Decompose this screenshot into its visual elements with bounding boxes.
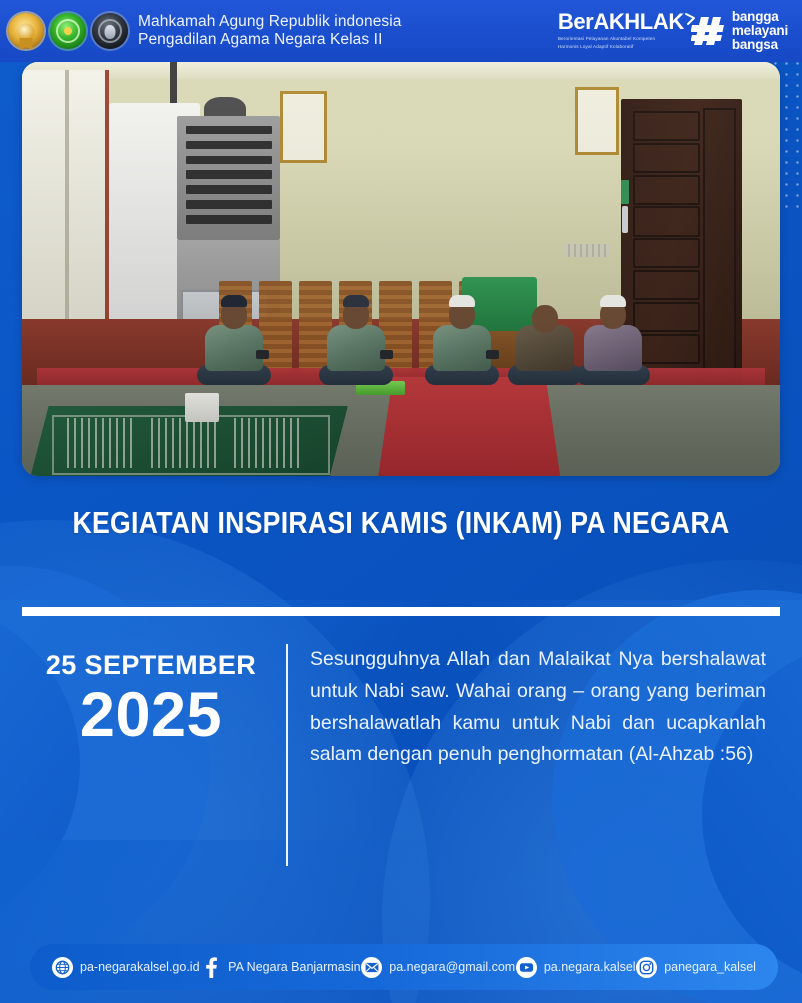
page-title: KEGIATAN INSPIRASI KAMIS (INKAM) PA NEGA… <box>56 505 746 541</box>
footer-item-instagram[interactable]: panegara_kalsel <box>636 957 756 978</box>
footer-item-youtube[interactable]: pa.negara.kalsel <box>516 957 636 978</box>
mahkamah-agung-dark-logo <box>92 13 128 49</box>
section-divider <box>22 607 780 616</box>
wbk-gold-award-logo <box>8 13 44 49</box>
berakhlak-word: BerAKHLAK <box>558 11 684 33</box>
org-line-1: Mahkamah Agung Republik indonesia <box>138 13 402 31</box>
hashtag-icon <box>691 15 725 47</box>
pengadilan-agama-green-logo <box>50 13 86 49</box>
logo-group <box>8 13 128 49</box>
org-line-2: Pengadilan Agama Negara Kelas II <box>138 31 402 49</box>
vertical-divider <box>286 644 288 866</box>
content-row: 25 SEPTEMBER 2025 Sesungguhnya Allah dan… <box>22 644 780 874</box>
berakhlak-wordmark: BerAKHLAK Berorientasi Pelayanan Akuntab… <box>558 11 684 52</box>
footer-contact-bar: pa-negarakalsel.go.id PA Negara Banjarma… <box>30 944 778 990</box>
berakhlak-subtitle-1: Berorientasi Pelayanan Akuntabel Kompete… <box>558 36 684 43</box>
date-day-month: 25 SEPTEMBER <box>22 650 280 681</box>
footer-label-facebook: PA Negara Banjarmasin <box>228 960 360 974</box>
organization-name: Mahkamah Agung Republik indonesia Pengad… <box>138 13 402 50</box>
footer-item-website[interactable]: pa-negarakalsel.go.id <box>52 957 200 978</box>
poster-canvas: Mahkamah Agung Republik indonesia Pengad… <box>0 0 802 1003</box>
footer-label-youtube: pa.negara.kalsel <box>544 960 636 974</box>
event-date: 25 SEPTEMBER 2025 <box>22 644 280 874</box>
email-icon <box>361 957 382 978</box>
footer-label-website: pa-negarakalsel.go.id <box>80 960 200 974</box>
tagline-line-1: bangga <box>732 10 788 24</box>
facebook-icon <box>200 957 221 978</box>
globe-icon <box>52 957 73 978</box>
date-year: 2025 <box>22 685 280 747</box>
berakhlak-tick-icon <box>685 7 695 19</box>
header-bar: Mahkamah Agung Republik indonesia Pengad… <box>0 0 802 62</box>
footer-item-email[interactable]: pa.negara@gmail.com <box>361 957 515 978</box>
footer-label-instagram: panegara_kalsel <box>664 960 756 974</box>
tagline-line-2: melayani <box>732 24 788 38</box>
event-photo <box>22 62 780 476</box>
quote-text: Sesungguhnya Allah dan Malaikat Nya bers… <box>310 644 780 874</box>
youtube-icon <box>516 957 537 978</box>
photo-scene <box>22 62 780 476</box>
footer-label-email: pa.negara@gmail.com <box>389 960 515 974</box>
instagram-icon <box>636 957 657 978</box>
footer-item-facebook[interactable]: PA Negara Banjarmasin <box>200 957 360 978</box>
berakhlak-subtitle-2: Harmonis Loyal Adaptif Kolaboratif <box>558 44 684 51</box>
berakhlak-tagline: bangga melayani bangsa <box>732 10 788 52</box>
photo-overlay <box>22 62 780 476</box>
tagline-line-3: bangsa <box>732 38 788 52</box>
berakhlak-logo: BerAKHLAK Berorientasi Pelayanan Akuntab… <box>558 10 788 52</box>
